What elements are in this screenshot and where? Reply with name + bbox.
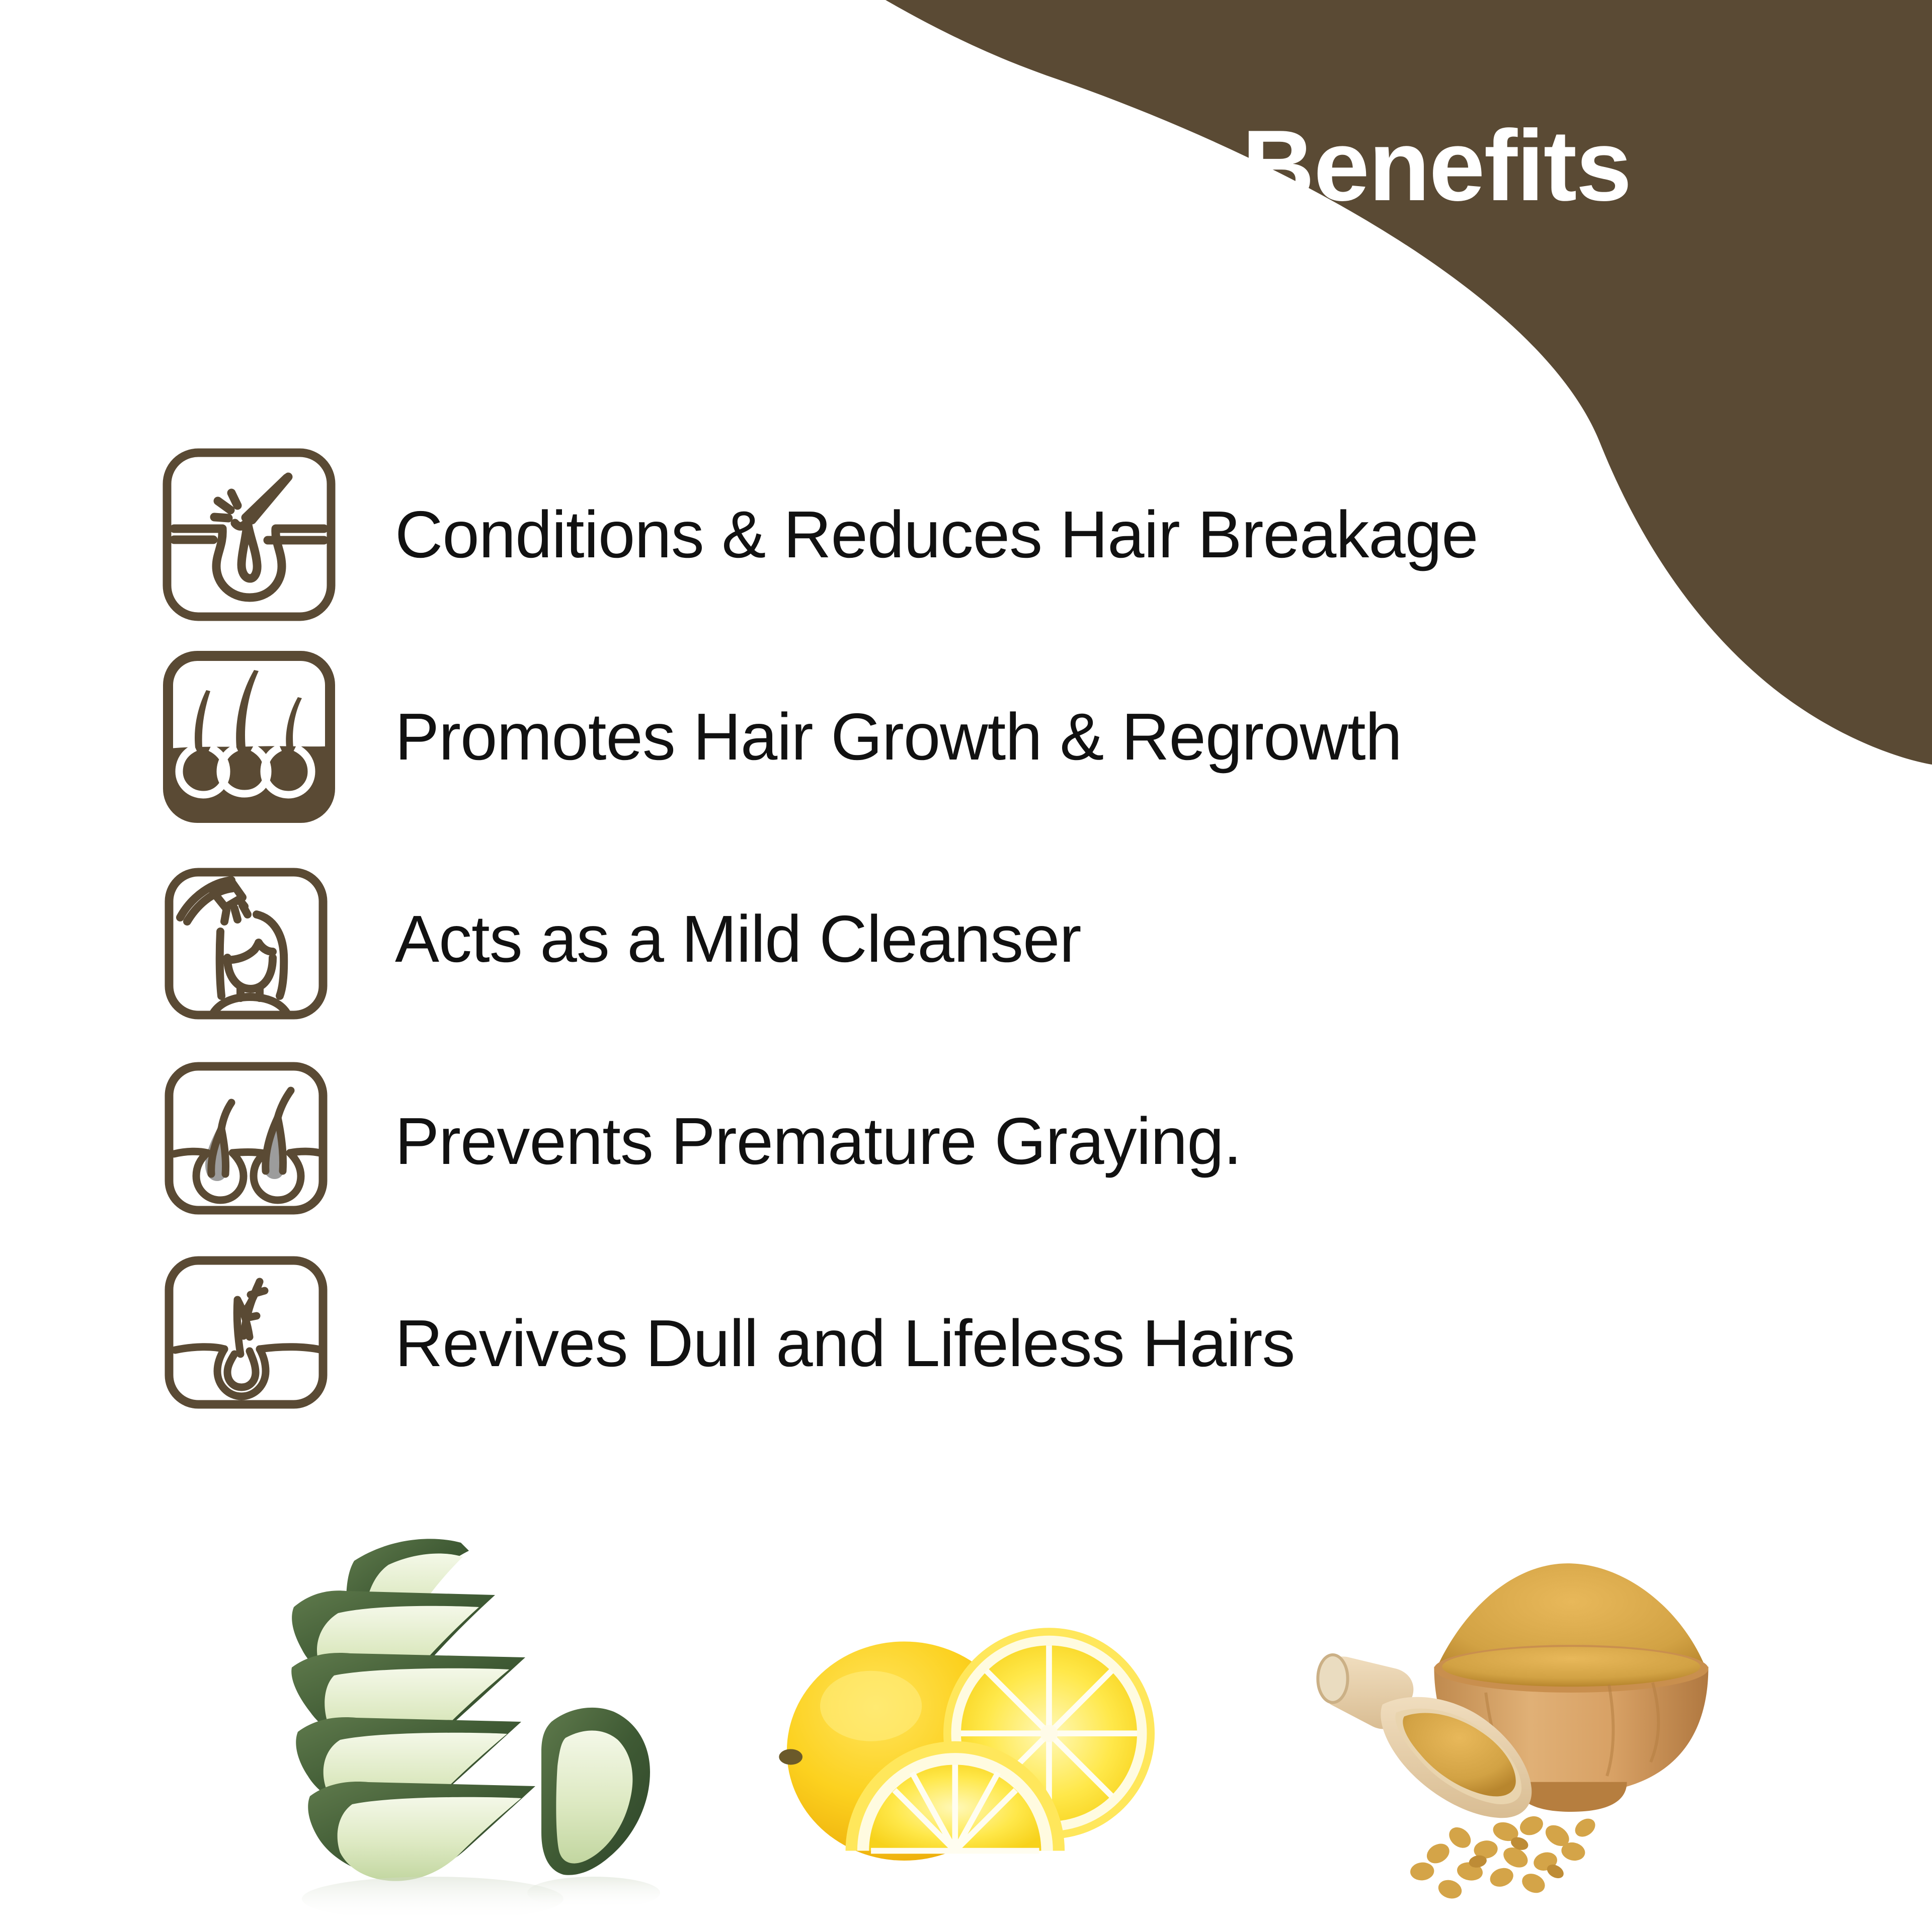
hair-growth-follicles-icon xyxy=(161,649,337,825)
ingredients-strip xyxy=(0,1478,1932,1931)
benefit-label: Acts as a Mild Cleanser xyxy=(395,906,1081,972)
benefit-item: Conditions & Reduces Hair Breakage xyxy=(161,447,1872,623)
benefit-label: Conditions & Reduces Hair Breakage xyxy=(395,501,1478,568)
woman-shower-cleanser-icon xyxy=(161,851,337,1027)
benefit-item: Promotes Hair Growth & Regrowth xyxy=(161,649,1872,825)
page-title: Benefits xyxy=(1122,116,1751,216)
benefit-label: Promotes Hair Growth & Regrowth xyxy=(395,704,1402,770)
benefit-item: Prevents Premature Graying. xyxy=(161,1053,1872,1229)
lemon-fruit-image xyxy=(755,1579,1167,1931)
hair-follicle-breakage-icon xyxy=(161,447,337,623)
benefit-item: Acts as a Mild Cleanser xyxy=(161,851,1872,1027)
benefits-list: Conditions & Reduces Hair Breakage xyxy=(161,447,1872,1432)
fenugreek-seeds-bowl-image xyxy=(1308,1534,1751,1931)
benefit-label: Revives Dull and Lifeless Hairs xyxy=(395,1310,1295,1377)
benefit-item: Revives Dull and Lifeless Hairs xyxy=(161,1255,1872,1432)
benefit-label: Prevents Premature Graying. xyxy=(395,1108,1241,1174)
dull-lifeless-hair-follicle-icon xyxy=(161,1255,337,1432)
aloe-vera-slices-image xyxy=(262,1498,684,1931)
gray-hair-follicles-icon xyxy=(161,1053,337,1229)
